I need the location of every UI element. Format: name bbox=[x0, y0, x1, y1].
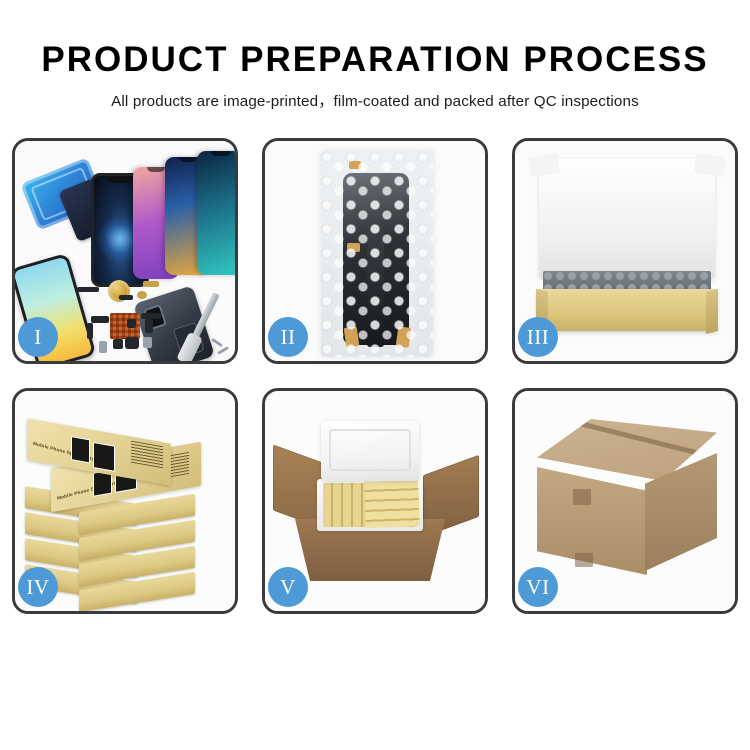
step-badge-4: IV bbox=[18, 567, 58, 607]
box-artwork-thumb bbox=[93, 442, 115, 472]
page-subtitle: All products are image-printed，film-coat… bbox=[0, 89, 750, 111]
component-part-icon bbox=[143, 337, 152, 348]
component-part-icon bbox=[99, 341, 107, 353]
phone-teal-icon bbox=[197, 151, 235, 275]
step-badge-2: II bbox=[268, 317, 308, 357]
white-foam-lid-icon bbox=[539, 159, 715, 279]
box-artwork-thumb bbox=[71, 436, 90, 463]
screw-icon bbox=[211, 338, 223, 347]
process-step-panel-2[interactable]: II bbox=[262, 138, 488, 364]
step-badge-3: III bbox=[518, 317, 558, 357]
step-badge-1: I bbox=[18, 317, 58, 357]
process-step-panel-1[interactable]: I bbox=[12, 138, 238, 364]
component-part-icon bbox=[137, 291, 147, 299]
component-part-icon bbox=[143, 281, 159, 287]
carton-tape-seam-icon bbox=[571, 419, 701, 456]
process-step-panel-3[interactable]: III bbox=[512, 138, 738, 364]
bubble-texture-highlight bbox=[321, 151, 433, 357]
component-part-icon bbox=[113, 339, 123, 349]
step-badge-5: V bbox=[268, 567, 308, 607]
process-step-panel-6[interactable]: VI bbox=[512, 388, 738, 614]
component-part-icon bbox=[145, 319, 153, 333]
component-part-icon bbox=[119, 295, 133, 300]
process-steps-grid: I II III bbox=[12, 138, 738, 614]
process-step-panel-4[interactable]: Mobile Phone Spare Parts Mobile Phone Sp… bbox=[12, 388, 238, 614]
component-part-icon bbox=[127, 319, 136, 328]
bubble-wrap-bag-icon bbox=[321, 151, 433, 357]
step-badge-6: VI bbox=[518, 567, 558, 607]
yellow-boxes-row-icon bbox=[364, 480, 420, 528]
yellow-box-tray-icon bbox=[537, 289, 717, 331]
component-part-icon bbox=[91, 316, 109, 323]
process-step-panel-5[interactable]: V bbox=[262, 388, 488, 614]
foam-cooler-lid-icon bbox=[321, 421, 419, 481]
component-part-icon bbox=[125, 337, 139, 349]
carton-notch-icon bbox=[575, 553, 593, 567]
box-spec-lines bbox=[131, 441, 163, 469]
carton-notch-icon bbox=[573, 489, 591, 505]
screw-icon bbox=[217, 346, 229, 355]
page-title: PRODUCT PREPARATION PROCESS bbox=[0, 40, 750, 80]
component-part-icon bbox=[87, 323, 93, 339]
component-part-icon bbox=[77, 287, 99, 292]
header: PRODUCT PREPARATION PROCESS All products… bbox=[0, 0, 750, 111]
